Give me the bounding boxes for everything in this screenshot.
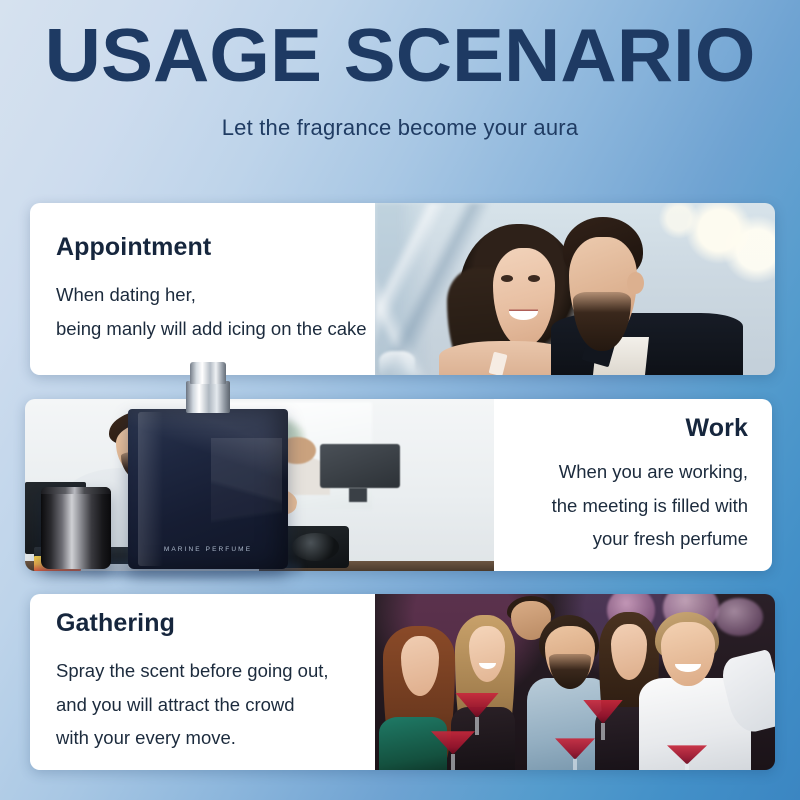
couple-dating-photo <box>375 203 775 375</box>
cocktail-glass <box>555 738 595 770</box>
card-title: Work <box>686 414 748 443</box>
cocktail-glass <box>431 731 475 770</box>
card-title: Gathering <box>56 609 175 638</box>
card-line: the meeting is filled with <box>552 489 748 523</box>
scenario-card-gathering[interactable]: Gathering Spray the scent before going o… <box>30 594 775 770</box>
bottle-sprayer <box>190 362 226 384</box>
page-title: USAGE SCENARIO <box>0 18 800 93</box>
card-line: with your every move. <box>56 721 236 755</box>
scenario-card-appointment[interactable]: Appointment When dating her, being manly… <box>30 203 775 375</box>
bottle-body: MARINE PERFUME <box>128 409 288 569</box>
photo-couple-illustration <box>375 203 775 375</box>
party-balloon <box>715 598 763 637</box>
cocktail-glass <box>667 745 707 770</box>
bottle-neck <box>186 381 230 413</box>
friends-party-selfie-photo <box>375 594 775 770</box>
photo-party-illustration <box>375 594 775 770</box>
bottle-cap <box>41 487 111 569</box>
cocktail-glass <box>455 693 499 735</box>
card-line: and you will attract the crowd <box>56 688 295 722</box>
man-ear <box>627 272 644 294</box>
office-monitor <box>320 444 400 489</box>
header: USAGE SCENARIO Let the fragrance become … <box>0 0 800 190</box>
card-text-panel: Work When you are working, the meeting i… <box>494 399 772 571</box>
card-line: Spray the scent before going out, <box>56 654 329 688</box>
usage-scenario-page: USAGE SCENARIO Let the fragrance become … <box>0 0 800 800</box>
cocktail-glass <box>583 700 623 740</box>
perfume-bottle-product-image: MARINE PERFUME <box>36 352 306 592</box>
wine-glass <box>379 351 415 375</box>
card-text-panel: Gathering Spray the scent before going o… <box>30 594 375 770</box>
card-line: being manly will add icing on the cake <box>56 312 367 346</box>
card-text-panel: Appointment When dating her, being manly… <box>30 203 375 375</box>
monitor-stand <box>349 488 368 502</box>
page-subtitle: Let the fragrance become your aura <box>0 115 800 141</box>
card-line: your fresh perfume <box>593 522 748 556</box>
card-line: When you are working, <box>559 455 748 489</box>
card-line: When dating her, <box>56 278 196 312</box>
card-title: Appointment <box>56 233 211 262</box>
person5-face <box>661 622 715 685</box>
bottle-label: MARINE PERFUME <box>128 546 288 553</box>
